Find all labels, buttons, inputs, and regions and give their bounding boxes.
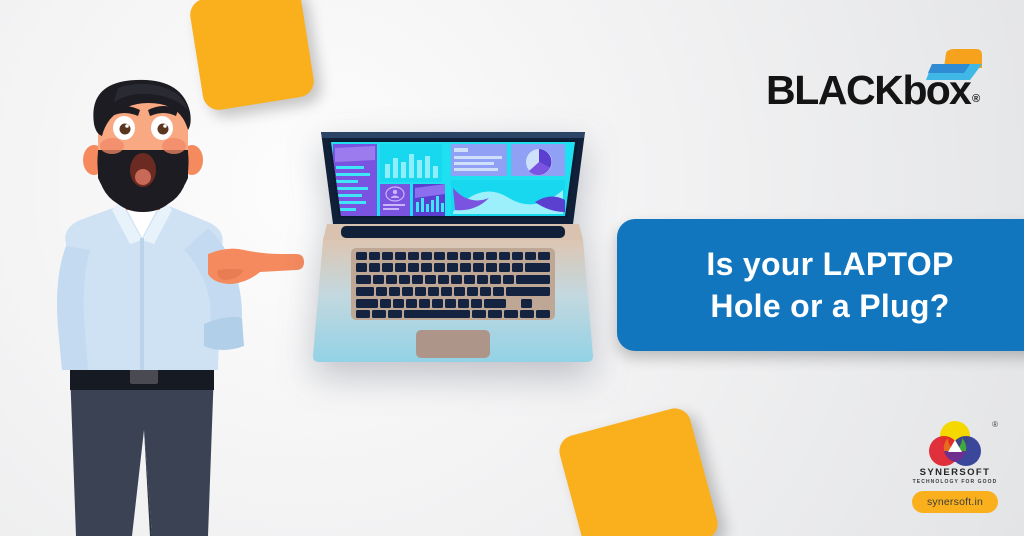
yellow-square-bottom — [556, 405, 721, 536]
pupil-left — [120, 124, 131, 135]
banner-line-1: Is your LAPTOP — [706, 243, 953, 285]
promo-banner: Is your LAPTOP Hole or a Plug? BLACK box… — [0, 0, 1024, 536]
pupil-right — [158, 124, 169, 135]
tongue — [135, 169, 151, 185]
blackbox-registered-mark: ® — [972, 93, 980, 105]
cheek-right — [162, 138, 186, 154]
synersoft-tagline: TECHNOLOGY FOR GOOD — [900, 479, 1010, 485]
character-illustration — [32, 78, 312, 536]
blackbox-wordmark: BLACK box ® — [766, 67, 980, 114]
sidebar-header-wave — [335, 146, 375, 162]
trackpad — [416, 330, 490, 358]
synersoft-registered-mark: ® — [992, 420, 998, 429]
screen-dashboard — [331, 142, 575, 216]
banner-line-2: Hole or a Plug? — [710, 285, 949, 327]
user-avatar-panel — [380, 184, 410, 216]
lid-top-edge — [321, 132, 585, 138]
hinge-slot — [341, 226, 565, 238]
eye-highlight-left — [125, 124, 129, 128]
color-wheel-icon — [922, 420, 988, 466]
avatar-head-icon — [393, 190, 397, 194]
sleeve-cuff-right — [204, 317, 244, 350]
blackbox-word-secondary: box — [902, 67, 970, 114]
synersoft-url-pill[interactable]: synersoft.in — [912, 491, 998, 513]
belt-buckle — [130, 368, 158, 384]
eye-highlight-right — [163, 124, 167, 128]
blackbox-logo[interactable]: BLACK box ® — [766, 48, 994, 114]
laptop-illustration — [303, 118, 603, 366]
pie-chart — [526, 149, 552, 175]
synersoft-url: synersoft.in — [927, 496, 983, 508]
synersoft-name: SYNERSOFT — [900, 467, 1010, 478]
pants — [70, 370, 214, 536]
cheek-left — [100, 138, 124, 154]
synersoft-logo[interactable]: ® SYNERSOFT TECHNOLOGY FOR GOOD synersof… — [900, 420, 1010, 516]
shirt-placket — [140, 238, 144, 370]
blackbox-word-primary: BLACK — [766, 67, 902, 114]
message-banner: Is your LAPTOP Hole or a Plug? — [617, 219, 1024, 351]
